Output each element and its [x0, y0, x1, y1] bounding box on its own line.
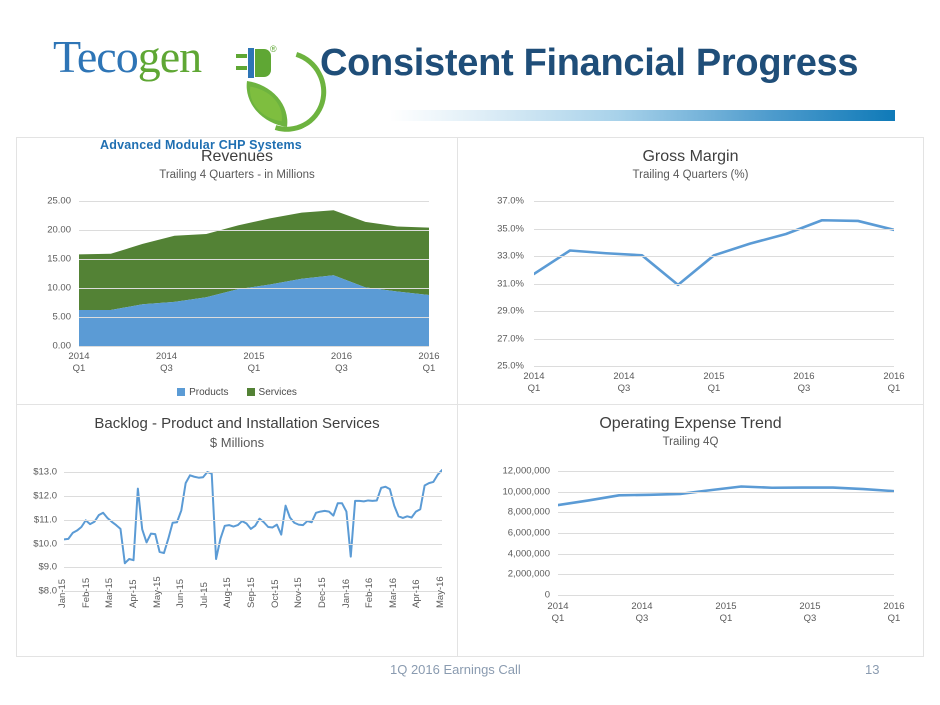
line-backlog — [64, 470, 442, 563]
backlog-plot — [64, 463, 442, 591]
y-axis-tick-label: 5.00 — [25, 312, 71, 323]
x-tick-quarter: Q3 — [160, 363, 173, 374]
x-tick-quarter: Q1 — [720, 613, 733, 624]
x-axis-tick-label: 2014Q1 — [508, 371, 560, 395]
gridline — [79, 230, 429, 231]
x-axis-tick-label: 2016Q3 — [778, 371, 830, 395]
x-axis-tick-label: 2015Q1 — [700, 601, 752, 625]
x-axis-tick-label: 2016Q1 — [403, 351, 455, 375]
slide: Tecogen ® Advanced Modular CHP Systems C… — [0, 0, 940, 705]
x-axis-month-label: Sep-15 — [246, 577, 257, 608]
x-axis-month-label: Oct-15 — [270, 579, 281, 608]
title-gradient-rule — [390, 110, 895, 121]
x-axis-month-label: May-15 — [152, 576, 163, 608]
x-tick-quarter: Q1 — [888, 383, 901, 394]
y-axis-tick-label: 35.0% — [460, 223, 524, 234]
x-axis-month-label: May-16 — [435, 576, 446, 608]
x-axis-tick-label: 2014Q1 — [53, 351, 105, 375]
x-tick-quarter: Q1 — [423, 363, 436, 374]
panel-operating-expense: Operating Expense Trend Trailing 4Q 02,0… — [458, 405, 923, 656]
line-gross-margin — [534, 220, 894, 285]
x-tick-year: 2014 — [156, 351, 177, 362]
y-axis-tick-label: 37.0% — [460, 196, 524, 207]
x-axis-month-label: Mar-15 — [104, 578, 115, 608]
x-tick-year: 2016 — [418, 351, 439, 362]
x-tick-year: 2016 — [793, 371, 814, 382]
gridline — [64, 496, 442, 497]
revenues-title: Revenues — [17, 148, 457, 166]
legend-label: Products — [189, 387, 228, 398]
gridline — [534, 284, 894, 285]
plug-stem — [248, 48, 254, 78]
y-axis-tick-label: 31.0% — [460, 278, 524, 289]
y-axis-tick-label: $10.0 — [17, 538, 57, 549]
gridline — [79, 346, 429, 347]
x-axis-tick-label: 2014Q1 — [532, 601, 584, 625]
legend-swatch — [177, 388, 185, 396]
x-tick-quarter: Q1 — [248, 363, 261, 374]
logo-word-teco: Teco — [53, 31, 138, 82]
x-axis-tick-label: 2014Q3 — [616, 601, 668, 625]
x-tick-year: 2016 — [331, 351, 352, 362]
footer-page-number: 13 — [865, 662, 879, 677]
y-axis-tick-label: 10.00 — [25, 283, 71, 294]
y-axis-tick-label: 25.0% — [460, 361, 524, 372]
x-axis-month-label: Feb-16 — [364, 578, 375, 608]
x-tick-quarter: Q1 — [73, 363, 86, 374]
gross-margin-subtitle: Trailing 4 Quarters (%) — [458, 169, 923, 181]
x-axis-month-label: Apr-15 — [128, 579, 139, 608]
y-axis-tick-label: 2,000,000 — [458, 569, 550, 580]
y-axis-tick-label: 27.0% — [460, 333, 524, 344]
x-axis-tick-label: 2015Q3 — [784, 601, 836, 625]
x-axis-tick-label: 2015Q1 — [228, 351, 280, 375]
x-tick-quarter: Q1 — [888, 613, 901, 624]
page-title: Consistent Financial Progress — [320, 44, 900, 84]
gridline — [79, 201, 429, 202]
panel-backlog: Backlog - Product and Installation Servi… — [17, 405, 458, 656]
backlog-subtitle: $ Millions — [17, 435, 457, 450]
x-tick-quarter: Q3 — [618, 383, 631, 394]
gridline — [534, 229, 894, 230]
x-tick-year: 2014 — [631, 601, 652, 612]
x-tick-quarter: Q3 — [798, 383, 811, 394]
gridline — [534, 366, 894, 367]
panel-revenues: Revenues Trailing 4 Quarters - in Millio… — [17, 138, 458, 405]
x-axis-tick-label: 2014Q3 — [598, 371, 650, 395]
plug-body — [255, 49, 271, 77]
x-tick-year: 2016 — [883, 371, 904, 382]
x-tick-quarter: Q1 — [708, 383, 721, 394]
plug-prong-bottom — [236, 66, 247, 70]
registered-mark: ® — [270, 44, 277, 54]
x-axis-month-label: Dec-15 — [317, 577, 328, 608]
gridline — [64, 567, 442, 568]
y-axis-tick-label: $8.0 — [17, 586, 57, 597]
x-axis-month-label: Jan-16 — [341, 579, 352, 608]
gridline — [558, 574, 894, 575]
x-tick-year: 2015 — [703, 371, 724, 382]
operating-expense-title: Operating Expense Trend — [458, 415, 923, 433]
slide-header: Tecogen ® Advanced Modular CHP Systems C… — [0, 0, 940, 136]
gridline — [534, 201, 894, 202]
gridline — [64, 544, 442, 545]
y-axis-tick-label: 8,000,000 — [458, 507, 550, 518]
x-tick-year: 2016 — [883, 601, 904, 612]
x-axis-month-label: Jan-15 — [57, 579, 68, 608]
gridline — [79, 317, 429, 318]
y-axis-tick-label: 6,000,000 — [458, 528, 550, 539]
x-tick-quarter: Q3 — [636, 613, 649, 624]
y-axis-tick-label: 0.00 — [25, 341, 71, 352]
plug-prong-top — [236, 54, 247, 58]
backlog-title: Backlog - Product and Installation Servi… — [17, 415, 457, 432]
gridline — [79, 288, 429, 289]
y-axis-tick-label: $13.0 — [17, 467, 57, 478]
y-axis-tick-label: $9.0 — [17, 562, 57, 573]
gridline — [64, 472, 442, 473]
footer-label: 1Q 2016 Earnings Call — [390, 662, 521, 677]
x-tick-year: 2014 — [613, 371, 634, 382]
x-axis-month-label: Aug-15 — [222, 577, 233, 608]
y-axis-tick-label: $11.0 — [17, 514, 57, 525]
x-axis-month-label: Jul-15 — [199, 582, 210, 608]
y-axis-tick-label: 4,000,000 — [458, 548, 550, 559]
operating-expense-subtitle: Trailing 4Q — [458, 436, 923, 448]
x-tick-quarter: Q1 — [552, 613, 565, 624]
logo-wordmark: Tecogen — [53, 34, 201, 80]
x-tick-year: 2015 — [799, 601, 820, 612]
y-axis-tick-label: 25.00 — [25, 196, 71, 207]
gridline — [534, 339, 894, 340]
gridline — [534, 256, 894, 257]
y-axis-tick-label: 33.0% — [460, 251, 524, 262]
x-axis-tick-label: 2016Q1 — [868, 371, 920, 395]
tecogen-logo: Tecogen ® Advanced Modular CHP Systems — [48, 32, 303, 132]
x-axis-tick-label: 2015Q1 — [688, 371, 740, 395]
x-axis-month-label: Jun-15 — [175, 579, 186, 608]
line-operating-expense — [558, 487, 894, 506]
legend-label: Services — [259, 387, 297, 398]
gridline — [79, 259, 429, 260]
gridline — [558, 512, 894, 513]
x-tick-quarter: Q3 — [804, 613, 817, 624]
y-axis-tick-label: $12.0 — [17, 491, 57, 502]
x-axis-month-label: Nov-15 — [293, 577, 304, 608]
chart-grid: Revenues Trailing 4 Quarters - in Millio… — [16, 137, 924, 657]
x-axis-tick-label: 2016Q1 — [868, 601, 920, 625]
gridline — [558, 471, 894, 472]
legend-swatch — [247, 388, 255, 396]
revenues-plot — [79, 201, 429, 346]
x-axis-month-label: Mar-16 — [388, 578, 399, 608]
legend-item-services[interactable]: Services — [247, 387, 297, 398]
x-tick-quarter: Q3 — [335, 363, 348, 374]
x-axis-month-label: Feb-15 — [81, 578, 92, 608]
y-axis-tick-label: 0 — [458, 590, 550, 601]
x-tick-year: 2015 — [243, 351, 264, 362]
y-axis-tick-label: 29.0% — [460, 306, 524, 317]
gridline — [64, 520, 442, 521]
gridline — [558, 595, 894, 596]
x-tick-year: 2014 — [523, 371, 544, 382]
x-axis-tick-label: 2016Q3 — [316, 351, 368, 375]
legend-item-products[interactable]: Products — [177, 387, 228, 398]
x-tick-year: 2015 — [715, 601, 736, 612]
x-axis-tick-label: 2014Q3 — [141, 351, 193, 375]
gridline — [558, 554, 894, 555]
x-tick-quarter: Q1 — [528, 383, 541, 394]
revenues-legend: ProductsServices — [17, 387, 457, 398]
panel-gross-margin: Gross Margin Trailing 4 Quarters (%) 25.… — [458, 138, 923, 405]
gridline — [534, 311, 894, 312]
y-axis-tick-label: 12,000,000 — [458, 466, 550, 477]
gridline — [558, 533, 894, 534]
gross-margin-title: Gross Margin — [458, 148, 923, 166]
y-axis-tick-label: 15.00 — [25, 254, 71, 265]
y-axis-tick-label: 10,000,000 — [458, 486, 550, 497]
logo-word-gen: gen — [138, 31, 201, 82]
gridline — [558, 492, 894, 493]
revenues-subtitle: Trailing 4 Quarters - in Millions — [17, 169, 457, 181]
x-axis-month-label: Apr-16 — [411, 579, 422, 608]
y-axis-tick-label: 20.00 — [25, 225, 71, 236]
x-tick-year: 2014 — [68, 351, 89, 362]
x-tick-year: 2014 — [547, 601, 568, 612]
